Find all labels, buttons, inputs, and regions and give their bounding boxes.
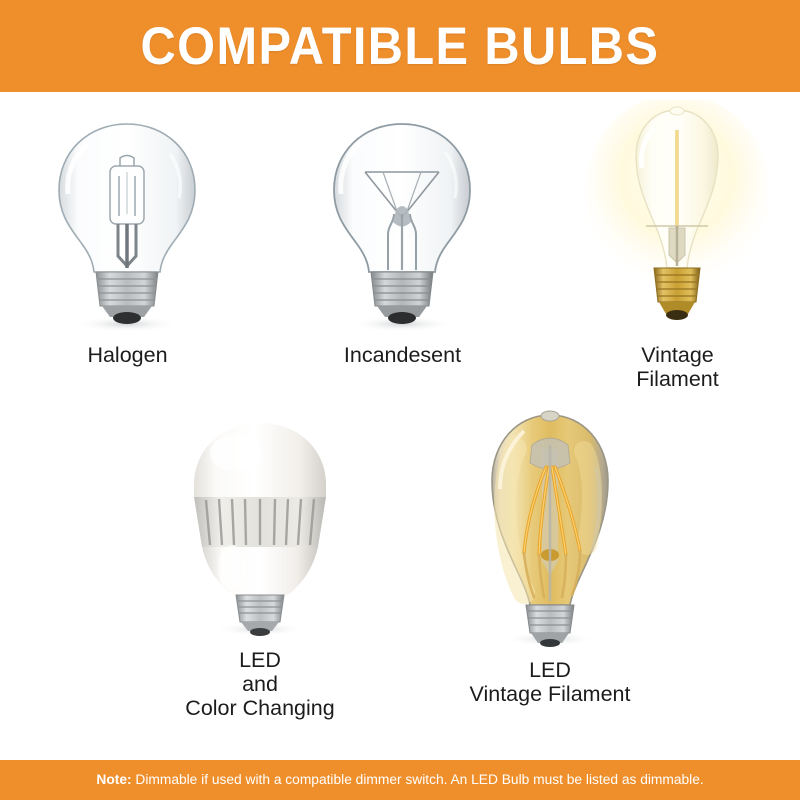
footer-note-banner: Note: Dimmable if used with a compatible… [0,760,800,800]
bulb-card-vintage-filament: Vintage Filament [570,100,785,391]
halogen-bulb-icon [20,110,235,335]
led-vintage-filament-bulb-icon [420,405,680,650]
bulb-label-halogen: Halogen [20,343,235,367]
led-bulb-icon [140,415,380,640]
bulb-label-led: LED and Color Changing [140,648,380,720]
footer-note-label: Note: [96,772,131,788]
bulb-card-led: LED and Color Changing [140,415,380,720]
page-title: COMPATIBLE BULBS [141,20,660,73]
bulb-label-led-vintage-filament: LED Vintage Filament [420,658,680,706]
header-banner: COMPATIBLE BULBS [0,0,800,92]
bulb-label-vintage-filament: Vintage Filament [570,343,785,391]
bulb-card-led-vintage-filament: LED Vintage Filament [420,405,680,706]
bulb-card-incandescent: Incandesent [295,110,510,367]
bulb-label-incandescent: Incandesent [295,343,510,367]
bulb-card-halogen: Halogen [20,110,235,367]
footer-note-text: Dimmable if used with a compatible dimme… [132,772,704,788]
vintage-filament-bulb-icon [570,100,785,335]
footer-note: Note: Dimmable if used with a compatible… [96,772,703,788]
incandescent-bulb-icon [295,110,510,335]
infographic-page: COMPATIBLE BULBS [0,0,800,800]
